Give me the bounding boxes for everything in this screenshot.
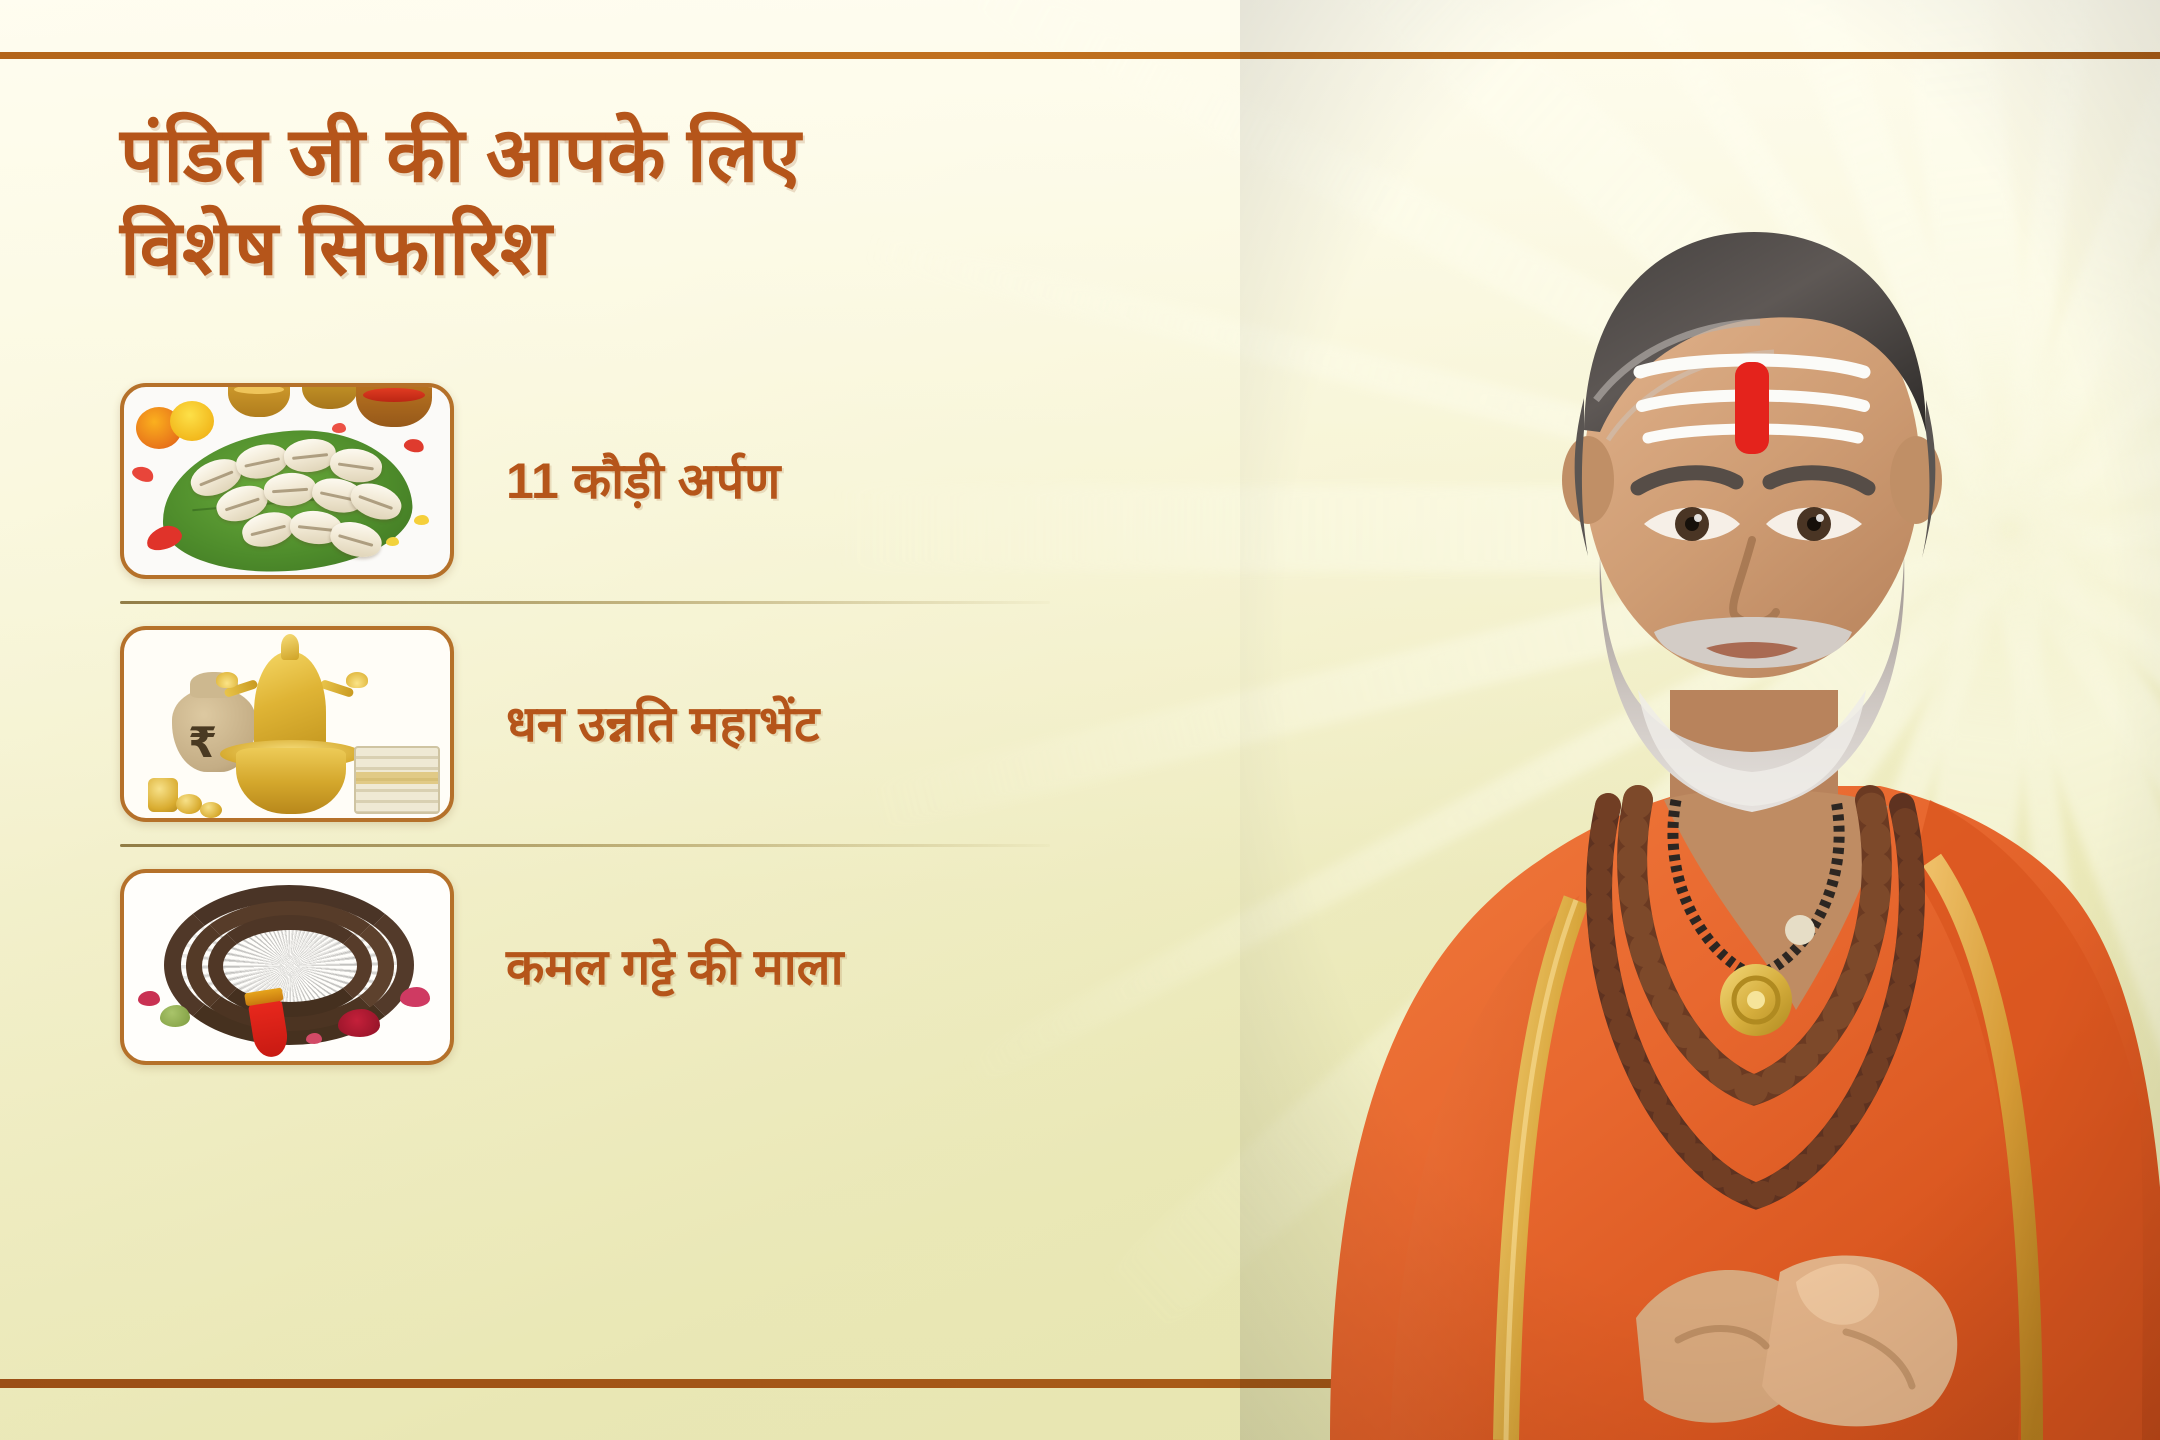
sunburst-ray bbox=[2010, 513, 2160, 549]
list-item-label: 11 कौड़ी अर्पण bbox=[506, 452, 780, 511]
recommendation-banner: पंडित जी की आपके लिए विशेष सिफारिश bbox=[0, 0, 2160, 1440]
sunburst-ray bbox=[1317, 515, 2031, 1440]
sunburst-ray bbox=[1327, 0, 2024, 540]
eyebrow-left bbox=[1638, 473, 1736, 488]
beard bbox=[1600, 556, 1905, 812]
rudraksha-mala-outer bbox=[1632, 800, 1877, 1090]
page-title: पंडित जी की आपके लिए विशेष सिफारिश bbox=[120, 110, 1170, 295]
top-divider-rule bbox=[0, 52, 2160, 59]
ear-right bbox=[1890, 436, 1942, 524]
chest bbox=[1664, 789, 1888, 1010]
tilak-icon bbox=[1640, 360, 1864, 454]
rudraksha-mala-wide bbox=[1599, 806, 1912, 1196]
neck bbox=[1670, 690, 1838, 842]
sunburst-ray bbox=[1569, 0, 2035, 539]
sunburst-ray bbox=[1574, 524, 2026, 1440]
offerings-list: 11 कौड़ी अर्पण ₹ bbox=[120, 361, 1050, 1087]
sunburst-ray bbox=[2000, 207, 2160, 571]
eye-right bbox=[1766, 507, 1862, 541]
sunburst-ray bbox=[1993, 0, 2160, 532]
sunburst-ray bbox=[1097, 498, 2038, 1344]
sunburst-rays bbox=[1060, 0, 2160, 1440]
list-item[interactable]: कमल गट्टे की माला bbox=[120, 847, 1050, 1087]
sunburst-ray bbox=[1993, 528, 2160, 1440]
list-item[interactable]: ₹ धन उन्नति महाभेंट bbox=[120, 604, 1050, 844]
content-column: पंडित जी की आपके लिए विशेष सिफारिश bbox=[120, 110, 1170, 1087]
lotus-seed-mala-icon bbox=[120, 869, 454, 1065]
gold-brocade-border-right bbox=[1932, 860, 2032, 1440]
sunburst-ray bbox=[1970, 515, 2160, 1440]
gold-brocade-border-left bbox=[1506, 900, 1576, 1440]
eyebrow-right bbox=[1770, 473, 1868, 488]
sunburst-ray bbox=[1824, 525, 2053, 1440]
bead-chain bbox=[1673, 800, 1839, 976]
ear-left bbox=[1562, 436, 1614, 524]
face bbox=[1584, 262, 1920, 678]
sunburst-ray bbox=[1975, 0, 2160, 554]
sunburst-ray bbox=[1999, 517, 2160, 1326]
list-item-label: धन उन्नति महाभेंट bbox=[506, 695, 819, 754]
hair bbox=[1584, 232, 1926, 432]
pendant-bead bbox=[1785, 915, 1815, 945]
gold-pendant bbox=[1720, 964, 1792, 1036]
sunburst-ray bbox=[1989, 515, 2160, 1440]
cowrie-shells-on-betel-leaf-icon bbox=[120, 383, 454, 579]
bottom-divider-rule bbox=[0, 1379, 2160, 1388]
robe-fold-left bbox=[1390, 895, 1580, 1440]
hands-mudra bbox=[1636, 1256, 1957, 1427]
headline-line-1: पंडित जी की आपके लिए bbox=[120, 113, 801, 198]
lips bbox=[1706, 642, 1798, 659]
sunburst-ray bbox=[1827, 0, 2053, 535]
headline-line-2: विशेष सिफारिश bbox=[120, 203, 1170, 296]
sunburst-ray bbox=[2004, 505, 2160, 839]
lakshmi-gold-wealth-icon: ₹ bbox=[120, 626, 454, 822]
robe-body bbox=[1330, 786, 2160, 1440]
sunburst-ray bbox=[1099, 0, 2038, 562]
sunburst-ray bbox=[1990, 492, 2160, 1118]
sunburst-ray bbox=[1986, 0, 2160, 539]
pandit-illustration bbox=[1240, 0, 2160, 1440]
list-item[interactable]: 11 कौड़ी अर्पण bbox=[120, 361, 1050, 601]
moustache bbox=[1654, 617, 1852, 668]
sunburst-ray bbox=[1999, 0, 2160, 543]
robe-shawl-right bbox=[1912, 800, 2143, 1440]
nose bbox=[1733, 540, 1776, 623]
list-item-label: कमल गट्टे की माला bbox=[506, 938, 844, 997]
eye-left bbox=[1644, 507, 1740, 541]
pandit-portrait bbox=[1240, 0, 2160, 1440]
sunburst-ray bbox=[1998, 0, 2160, 553]
